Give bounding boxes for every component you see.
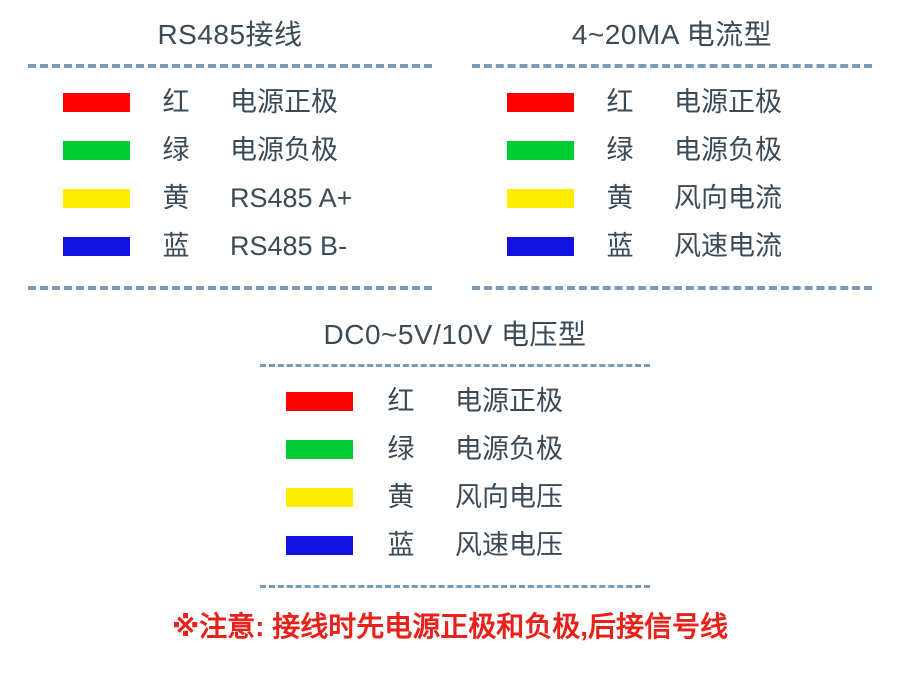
wire-function-label: 电源正极 [230,87,338,117]
yellow-swatch [507,189,574,208]
wire-function-label: 风向电压 [455,482,563,512]
table-row: 红 电源正极 [260,377,650,425]
wire-function-label: RS485 A+ [230,183,352,213]
wire-function-label: 风速电流 [674,231,782,261]
table-row: 黄 风向电流 [472,174,872,222]
wire-row-list: 红 电源正极 绿 电源负极 黄 风向电压 蓝 风速电压 [260,367,650,569]
red-swatch [63,93,130,112]
wiring-panel-rs485: RS485接线 红 电源正极 绿 电源负极 黄 RS485 A+ 蓝 RS485… [28,14,432,290]
wire-row-list: 红 电源正极 绿 电源负极 黄 风向电流 蓝 风速电流 [472,68,872,270]
table-row: 绿 电源负极 [472,126,872,174]
wire-color-label: 绿 [584,135,656,165]
wire-function-label: 风速电压 [455,530,563,560]
dashed-divider-bottom [260,585,650,588]
panel-title: 4~20MA 电流型 [472,14,872,56]
wire-color-label: 蓝 [365,530,437,560]
panel-title: DC0~5V/10V 电压型 [260,314,650,356]
table-row: 蓝 风速电流 [472,222,872,270]
wire-row-list: 红 电源正极 绿 电源负极 黄 RS485 A+ 蓝 RS485 B- [28,68,432,270]
wire-color-label: 红 [365,386,437,416]
wire-function-label: 电源正极 [455,386,563,416]
blue-swatch [286,536,353,555]
spacer [472,270,872,278]
blue-swatch [507,237,574,256]
green-swatch [63,141,130,160]
dashed-divider-bottom [28,286,432,290]
wire-color-label: 蓝 [584,231,656,261]
wire-color-label: 蓝 [140,231,212,261]
wire-color-label: 红 [584,87,656,117]
red-swatch [507,93,574,112]
wire-function-label: 电源负极 [455,434,563,464]
wire-function-label: 电源正极 [674,87,782,117]
yellow-swatch [286,488,353,507]
blue-swatch [63,237,130,256]
red-swatch [286,392,353,411]
green-swatch [286,440,353,459]
dashed-divider-bottom [472,286,872,290]
panel-title: RS485接线 [28,14,432,56]
spacer [28,270,432,278]
table-row: 蓝 RS485 B- [28,222,432,270]
wiring-panel-voltage: DC0~5V/10V 电压型 红 电源正极 绿 电源负极 黄 风向电压 蓝 风速… [260,314,650,588]
wiring-panel-current: 4~20MA 电流型 红 电源正极 绿 电源负极 黄 风向电流 蓝 风速电流 [472,14,872,290]
wire-color-label: 黄 [365,482,437,512]
wire-function-label: 风向电流 [674,183,782,213]
table-row: 绿 电源负极 [260,425,650,473]
wire-function-label: 电源负极 [230,135,338,165]
spacer [260,569,650,577]
table-row: 黄 风向电压 [260,473,650,521]
wire-color-label: 黄 [140,183,212,213]
table-row: 蓝 风速电压 [260,521,650,569]
yellow-swatch [63,189,130,208]
wire-color-label: 红 [140,87,212,117]
wire-function-label: 电源负极 [674,135,782,165]
wire-color-label: 黄 [584,183,656,213]
warning-note: ※注意: 接线时先电源正极和负极,后接信号线 [0,607,900,647]
table-row: 红 电源正极 [472,78,872,126]
table-row: 红 电源正极 [28,78,432,126]
wire-function-label: RS485 B- [230,231,347,261]
green-swatch [507,141,574,160]
table-row: 绿 电源负极 [28,126,432,174]
wire-color-label: 绿 [365,434,437,464]
wire-color-label: 绿 [140,135,212,165]
table-row: 黄 RS485 A+ [28,174,432,222]
